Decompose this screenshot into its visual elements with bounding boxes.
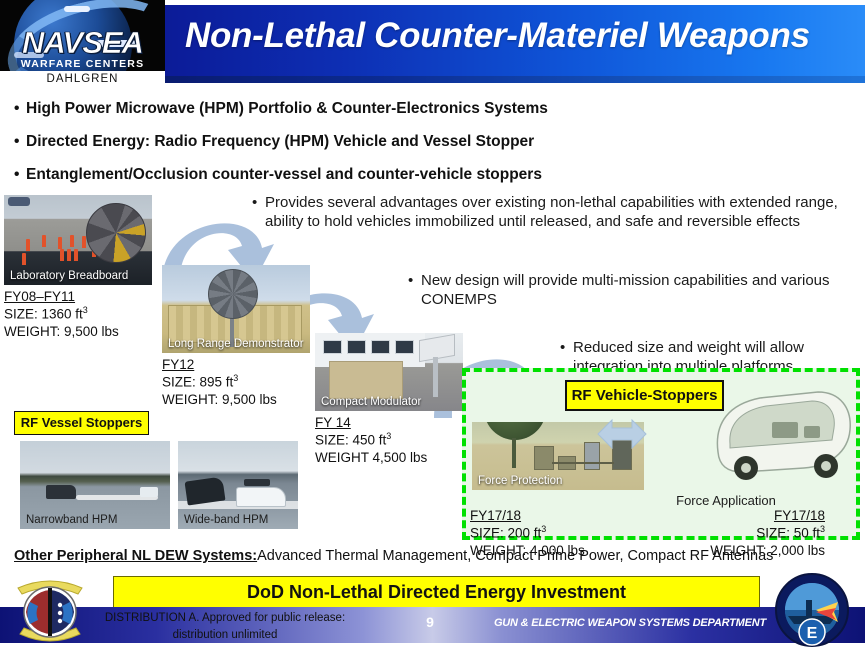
bullet-dot-icon: •: [14, 100, 26, 118]
sub-bullet-text: Provides several advantages over existin…: [265, 193, 862, 231]
cone-shape: [60, 249, 64, 261]
photo-long-range-demonstrator: Long Range Demonstrator: [162, 265, 310, 353]
photo-caption: Compact Modulator: [321, 396, 421, 408]
main-bullet-item: •Entanglement/Occlusion counter-vessel a…: [14, 166, 674, 184]
page-number: 9: [410, 614, 450, 630]
svg-text:E: E: [807, 625, 818, 642]
distribution-statement: DISTRIBUTION A. Approved for public rele…: [100, 610, 350, 643]
modulator-box-shape: [329, 361, 403, 399]
spec-size: SIZE: 450 ft3: [315, 431, 427, 449]
bullet-dot-icon: •: [14, 133, 26, 151]
peripheral-systems-line: Other Peripheral NL DEW Systems:Advanced…: [14, 548, 773, 564]
slide-header: Non-Lethal Counter-Materiel Weapons NAVS…: [0, 0, 865, 88]
boat-shape: [46, 485, 76, 499]
spec-size-exponent: 3: [386, 431, 391, 441]
window-shape: [371, 340, 390, 354]
navsea-site-label: DAHLGREN: [0, 71, 165, 88]
rf-vessel-stoppers-tag: RF Vessel Stoppers: [14, 411, 149, 435]
tripod-shape: [512, 438, 516, 468]
spec-fiscal-year: FY 14: [315, 414, 427, 431]
spec-weight: WEIGHT: 9,500 lbs: [162, 391, 277, 408]
main-bullet-item: •Directed Energy: Radio Frequency (HPM) …: [14, 133, 674, 151]
slide-root: Non-Lethal Counter-Materiel Weapons NAVS…: [0, 0, 865, 649]
peripheral-label: Other Peripheral NL DEW Systems:: [14, 548, 257, 564]
window-shape: [323, 340, 342, 354]
photo-caption: Long Range Demonstrator: [168, 338, 304, 350]
sub-bullet-item: • Provides several advantages over exist…: [252, 193, 862, 231]
tripod-leg-shape: [433, 357, 438, 397]
rf-vehicle-stoppers-tag: RF Vehicle-Stoppers: [565, 380, 724, 411]
photo-laboratory-breadboard: Laboratory Breadboard: [4, 195, 152, 285]
spec-size: SIZE: 200 ft3: [470, 524, 585, 542]
department-seal-icon: E: [772, 570, 852, 649]
cone-shape: [67, 249, 71, 261]
spec-fiscal-year: FY12: [162, 356, 277, 373]
vehicle-shape: [8, 197, 30, 206]
spec-weight: WEIGHT: 9,500 lbs: [4, 323, 119, 340]
boat-shape: [236, 487, 286, 507]
spec-size: SIZE: 895 ft3: [162, 373, 277, 391]
main-bullet-text: High Power Microwave (HPM) Portfolio & C…: [26, 100, 548, 117]
boat-canopy-shape: [244, 479, 270, 486]
photo-caption: Force Protection: [478, 475, 562, 487]
specs-compact-modulator: FY 14 SIZE: 450 ft3 WEIGHT 4,500 lbs: [315, 414, 427, 466]
cloud-icon: [64, 6, 90, 12]
photo-caption: Laboratory Breadboard: [10, 270, 128, 282]
spec-fiscal-year: FY17/18: [640, 507, 825, 524]
antenna-dish-shape: [86, 203, 146, 263]
spec-weight: WEIGHT 4,500 lbs: [315, 449, 427, 466]
cone-shape: [74, 249, 78, 261]
main-bullet-text: Entanglement/Occlusion counter-vessel an…: [26, 166, 542, 183]
specs-long-range-demonstrator: FY12 SIZE: 895 ft3 WEIGHT: 9,500 lbs: [162, 356, 277, 408]
spec-size-exponent: 3: [83, 305, 88, 315]
main-bullet-item: •High Power Microwave (HPM) Portfolio & …: [14, 100, 674, 118]
antenna-dish-shape: [208, 269, 258, 319]
page-title: Non-Lethal Counter-Materiel Weapons: [185, 16, 810, 56]
window-shape: [347, 340, 366, 354]
bullet-dot-icon: •: [14, 166, 26, 184]
spec-size: SIZE: 50 ft3: [640, 524, 825, 542]
cone-shape: [70, 235, 74, 247]
bullet-dot-icon: •: [408, 271, 413, 290]
photo-caption: Wide-band HPM: [184, 514, 268, 526]
generator-shape: [534, 446, 554, 470]
navsea-logo: NAVSEA WARFARE CENTERS DAHLGREN: [0, 0, 165, 88]
spec-size-exponent: 3: [233, 373, 238, 383]
sub-bullet-text: New design will provide multi-mission ca…: [421, 271, 858, 309]
navsea-subtitle: WARFARE CENTERS: [0, 58, 165, 70]
window-shape: [395, 340, 414, 354]
specs-laboratory-breadboard: FY08–FY11 SIZE: 1360 ft3 WEIGHT: 9,500 l…: [4, 288, 119, 340]
spec-size: SIZE: 1360 ft3: [4, 305, 119, 323]
sub-bullet-item: • New design will provide multi-mission …: [408, 271, 858, 309]
department-name: GUN & ELECTRIC WEAPON SYSTEMS DEPARTMENT: [480, 617, 780, 629]
cone-shape: [26, 239, 30, 251]
bidirectional-arrow-icon: [596, 412, 648, 456]
cone-shape: [42, 235, 46, 247]
dod-investment-banner: DoD Non-Lethal Directed Energy Investmen…: [113, 576, 760, 609]
photo-wide-band-hpm: Wide-band HPM: [178, 441, 298, 529]
cone-shape: [22, 253, 26, 265]
main-bullet-list: •High Power Microwave (HPM) Portfolio & …: [14, 100, 674, 198]
peripheral-text: Advanced Thermal Management, Compact Pri…: [257, 548, 773, 564]
command-seal-icon: [8, 572, 92, 649]
main-bullet-text: Directed Energy: Radio Frequency (HPM) V…: [26, 133, 534, 150]
photo-caption: Narrowband HPM: [26, 514, 117, 526]
boat-shape: [140, 487, 158, 497]
navsea-wordmark: NAVSEA: [0, 25, 165, 61]
cable-shape: [552, 462, 614, 464]
spec-fiscal-year: FY08–FY11: [4, 288, 119, 305]
spec-size-exponent: 3: [541, 524, 546, 534]
cone-shape: [58, 237, 62, 249]
spec-size-exponent: 3: [820, 524, 825, 534]
photo-compact-modulator: Compact Modulator: [315, 333, 463, 411]
photo-narrowband-hpm: Narrowband HPM: [20, 441, 170, 529]
spec-fiscal-year: FY17/18: [470, 507, 585, 524]
force-application-caption: Force Application: [626, 493, 826, 508]
bullet-dot-icon: •: [560, 338, 565, 357]
